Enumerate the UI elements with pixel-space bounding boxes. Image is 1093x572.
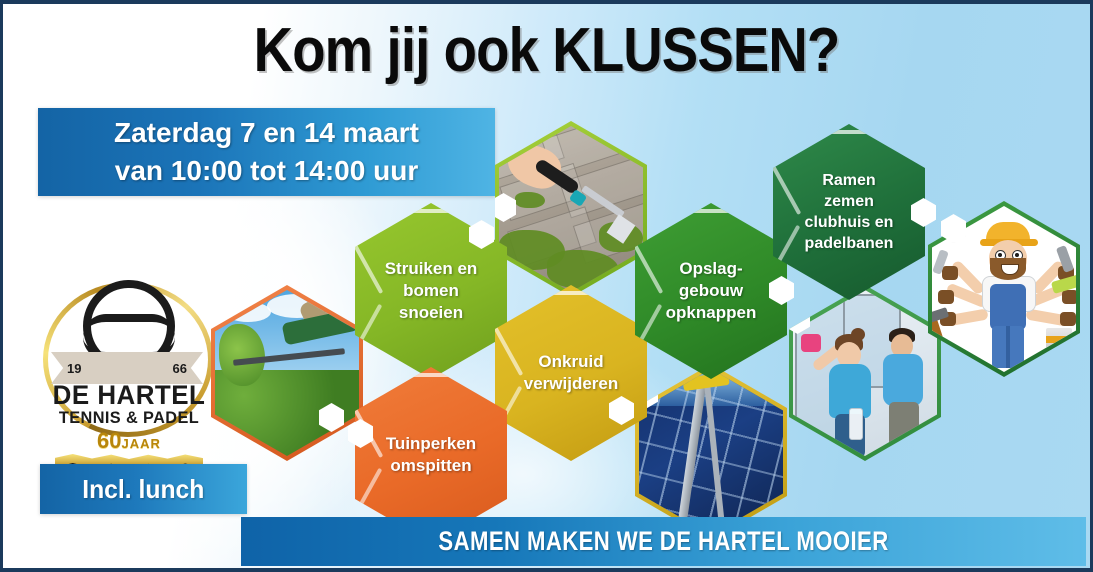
task-label-line: bomen (385, 280, 478, 302)
hex-bevel-top (388, 373, 473, 377)
task-hex-ramen[interactable]: Ramen zemen clubhuis en padelbanen (773, 124, 925, 300)
window-cleaning-photo (793, 290, 937, 456)
photo-hex-window-image (793, 290, 937, 456)
hex-bevel-top (528, 291, 613, 295)
handyman-glove (1062, 290, 1076, 304)
photo-hex-hedge (211, 285, 363, 461)
task-label-line: padelbanen (805, 233, 894, 254)
date-line-1: Zaterdag 7 en 14 maart (114, 114, 419, 152)
task-label-line: gebouw (666, 280, 757, 302)
task-label-line: Struiken en (385, 258, 478, 280)
task-hex-opslag-label: Opslag- gebouw opknappen (656, 258, 767, 324)
logo-club-name: DE HARTEL (43, 380, 216, 411)
man-body (883, 354, 923, 406)
task-label-line: clubhuis en (805, 212, 894, 233)
spray-bottle (849, 408, 863, 440)
club-logo: 19 66 DE HARTEL TENNIS & PADEL 60JAAR (39, 276, 219, 460)
photo-hex-weeds-image (499, 126, 643, 292)
task-hex-onkruid[interactable]: Onkruid verwijderen (495, 285, 647, 461)
poster-canvas: Kom jij ook KLUSSEN? Zaterdag 7 en 14 ma… (0, 0, 1093, 572)
task-hex-ramen-label: Ramen zemen clubhuis en padelbanen (795, 170, 904, 254)
hex-bevel-top (668, 209, 753, 213)
logo-anniversary: 60JAAR (39, 428, 219, 454)
date-line-2: van 10:00 tot 14:00 uur (115, 152, 418, 190)
logo-anniversary-number: 60 (97, 428, 121, 453)
task-label-line: zemen (805, 191, 894, 212)
hedge-trimming-photo (215, 290, 359, 456)
moss-patch (515, 192, 545, 208)
lunch-banner: Incl. lunch (40, 464, 247, 514)
photo-hex-hedge-image (215, 290, 359, 456)
task-label-line: Opslag- (666, 258, 757, 280)
photo-hex-solar (635, 364, 787, 540)
footer-banner: SAMEN MAKEN WE DE HARTEL MOOIER (241, 517, 1086, 566)
logo-club-subtitle: TENNIS & PADEL (43, 408, 216, 428)
date-banner: Zaterdag 7 en 14 maart van 10:00 tot 14:… (38, 108, 495, 196)
cloud-shape (225, 302, 271, 322)
task-hex-struiken-label: Struiken en bomen snoeien (375, 258, 488, 324)
woman-hair-bun (851, 328, 865, 341)
man-legs (889, 402, 919, 454)
poster-title: Kom jij ook KLUSSEN? (68, 20, 1025, 82)
moss-patch (547, 250, 619, 288)
task-hex-tuinperken-label: Tuinperken omspitten (376, 433, 486, 477)
handyman-glove (942, 266, 958, 280)
photo-hex-window (789, 285, 941, 461)
paint-bucket-stripe (1046, 336, 1072, 343)
task-label-line: verwijderen (524, 373, 619, 395)
logo-year-right: 66 (173, 361, 187, 376)
handyman-leg-divider (1006, 326, 1010, 368)
logo-anniversary-word: JAAR (122, 436, 161, 451)
photo-hex-solar-image (639, 369, 783, 535)
task-label-line: opknappen (666, 302, 757, 324)
photo-hex-weeds (495, 121, 647, 297)
footer-banner-label: SAMEN MAKEN WE DE HARTEL MOOIER (438, 526, 888, 557)
task-hex-opslag[interactable]: Opslag- gebouw opknappen (635, 203, 787, 379)
task-label-line: omspitten (386, 455, 476, 477)
weeding-tool-photo (499, 126, 643, 292)
solar-panel-cleaning-photo (639, 369, 783, 535)
logo-year-left: 19 (67, 361, 81, 376)
task-label-line: Ramen (805, 170, 894, 191)
hex-bevel-top (388, 209, 473, 213)
hex-bevel-top (806, 130, 891, 134)
task-label-line: Onkruid (524, 351, 619, 373)
hex-bevel-left-lower (350, 468, 383, 522)
lunch-banner-label: Incl. lunch (82, 474, 204, 505)
cleaning-cloth (801, 334, 821, 352)
task-label-line: Tuinperken (386, 433, 476, 455)
handyman-glove (938, 290, 954, 304)
task-hex-onkruid-label: Onkruid verwijderen (514, 351, 629, 395)
handyman-overalls (990, 284, 1026, 330)
task-label-line: snoeien (385, 302, 478, 324)
handyman-glove (1060, 312, 1076, 326)
